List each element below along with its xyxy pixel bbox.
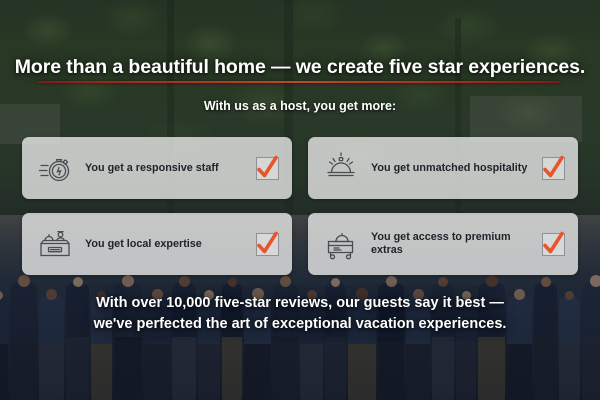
service-bell-icon [321, 148, 361, 188]
footer-line-2: we've perfected the art of exceptional v… [0, 314, 600, 335]
benefit-card-unmatched-hospitality[interactable]: You get unmatched hospitality [308, 137, 578, 199]
reception-desk-icon [35, 224, 75, 264]
benefit-card-responsive-staff[interactable]: You get a responsive staff [22, 137, 292, 199]
benefit-checkbox[interactable] [542, 233, 565, 256]
footer-line-1: With over 10,000 five-star reviews, our … [0, 293, 600, 314]
title-underline [38, 81, 560, 83]
review-count: 10,000 [166, 295, 210, 311]
footer-line1-pre: With over [96, 295, 166, 311]
footer-statement: With over 10,000 five-star reviews, our … [0, 293, 600, 335]
benefit-label: You get a responsive staff [75, 162, 256, 175]
promo-banner: More than a beautiful home — we create f… [0, 0, 600, 400]
stopwatch-icon [35, 148, 75, 188]
room-service-cart-icon [321, 224, 361, 264]
benefit-checkbox[interactable] [542, 157, 565, 180]
benefit-checkbox[interactable] [256, 157, 279, 180]
benefit-card-premium-extras[interactable]: You get access to premium extras [308, 213, 578, 275]
benefit-label: You get access to premium extras [361, 231, 542, 257]
benefits-grid: You get a responsive staff [22, 137, 578, 275]
benefit-checkbox[interactable] [256, 233, 279, 256]
benefit-card-local-expertise[interactable]: You get local expertise [22, 213, 292, 275]
benefit-label: You get unmatched hospitality [361, 162, 542, 175]
benefit-label: You get local expertise [75, 238, 256, 251]
page-subtitle: With us as a host, you get more: [0, 99, 600, 113]
footer-line1-post: five-star reviews, our guests say it bes… [210, 295, 503, 311]
page-title: More than a beautiful home — we create f… [0, 56, 600, 79]
